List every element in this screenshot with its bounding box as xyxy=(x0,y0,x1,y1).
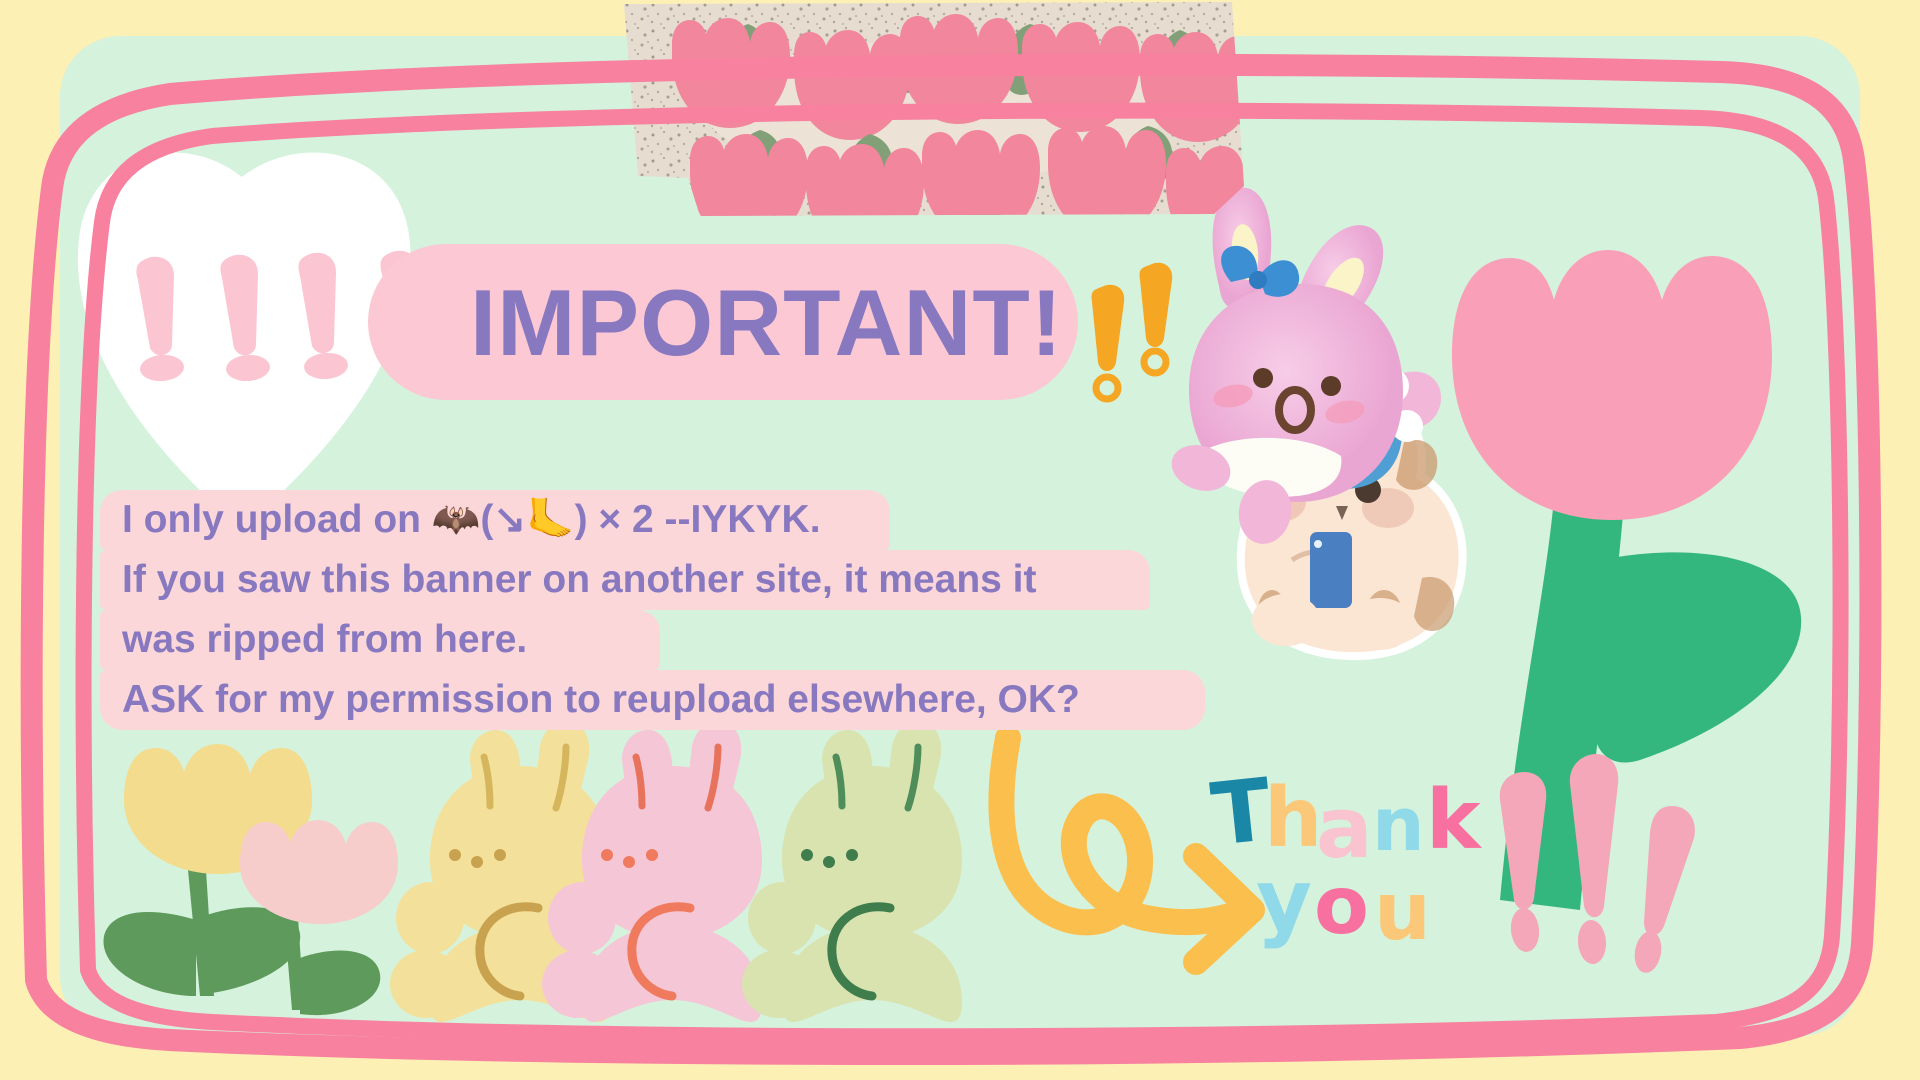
message-row: If you saw this banner on another site, … xyxy=(100,550,1230,610)
letter-o: o xyxy=(1314,866,1369,946)
message-row: was ripped from here. xyxy=(100,610,1230,670)
message-block: I only upload on 🦇(↘🦶) × 2 --IYKYK. If y… xyxy=(100,490,1230,730)
message-line: If you saw this banner on another site, … xyxy=(122,550,1037,610)
message-row: ASK for my permission to reupload elsewh… xyxy=(100,670,1230,730)
letter-k: k xyxy=(1426,780,1481,862)
banner-canvas: IMPORTANT! I only upload on 🦇(↘🦶) × 2 --… xyxy=(0,0,1920,1080)
gummy-bunny-green-icon xyxy=(742,721,962,1022)
small-tulips-icon xyxy=(103,744,398,1015)
message-line: I only upload on 🦇(↘🦶) × 2 --IYKYK. xyxy=(122,490,821,550)
letter-a: a xyxy=(1316,786,1373,870)
letter-h: h xyxy=(1264,778,1322,860)
message-row: I only upload on 🦇(↘🦶) × 2 --IYKYK. xyxy=(100,490,1230,550)
letter-y: y xyxy=(1256,858,1312,944)
page-title: IMPORTANT! xyxy=(470,258,1110,388)
letter-u: u xyxy=(1374,872,1431,952)
pink-exclamation-marks-icon xyxy=(1500,754,1695,975)
letter-n: n xyxy=(1372,788,1425,862)
thank-you-lettering: T h a n k y o u xyxy=(1212,762,1512,952)
message-line: ASK for my permission to reupload elsewh… xyxy=(122,670,1080,730)
message-line: was ripped from here. xyxy=(122,610,527,670)
